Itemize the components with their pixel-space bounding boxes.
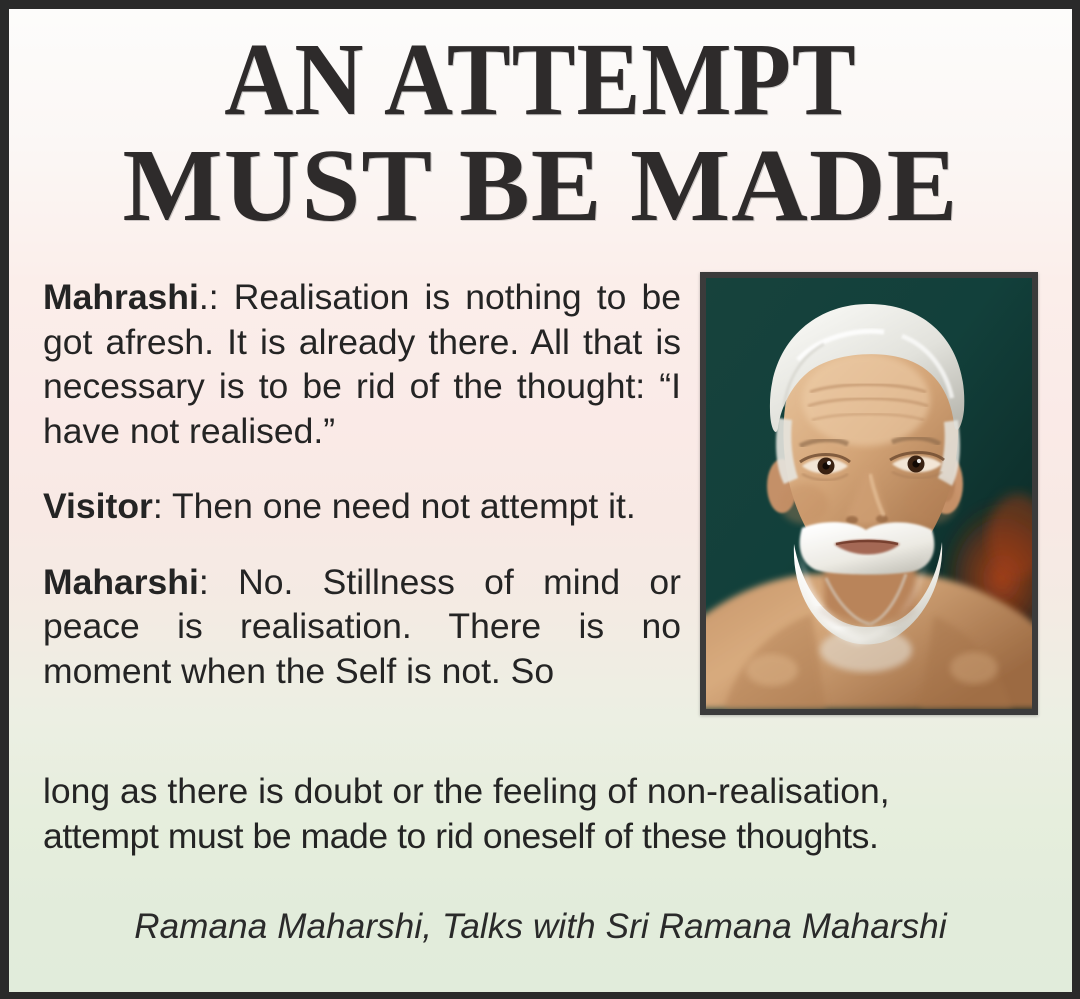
continuation-line-2: attempt must be made to rid oneself of t… [43,814,1047,859]
page-title: AN ATTEMPT MUST BE MADE [9,29,1072,237]
attribution: Ramana Maharshi, Talks with Sri Ramana M… [9,907,1072,947]
dialogue-paragraph-maharshi-1: Mahrashi.: Realisation is nothing to be … [43,275,681,453]
dialogue-text-visitor: Then one need not attempt it. [172,486,636,526]
dialogue-column: Mahrashi.: Realisation is nothing to be … [43,275,681,693]
speaker-label-mahrashi: Mahrashi [43,277,199,317]
speaker-suffix-maharshi: : [199,562,209,602]
speaker-label-maharshi: Maharshi [43,562,199,602]
portrait-image [700,272,1038,715]
continuation-line-1: long as there is doubt or the feeling of… [43,769,1047,814]
dialogue-paragraph-maharshi-2: Maharshi: No. Stillness of mind or peace… [43,560,681,694]
portrait-illustration [706,278,1032,709]
dialogue-paragraph-visitor: Visitor: Then one need not attempt it. [43,484,681,529]
quote-poster: AN ATTEMPT MUST BE MADE [0,0,1080,999]
dialogue-continuation: long as there is doubt or the feeling of… [43,769,1047,858]
title-line-1: AN ATTEMPT [52,29,1030,131]
speaker-suffix-mahrashi: .: [199,277,219,317]
speaker-label-visitor: Visitor [43,486,153,526]
speaker-suffix-visitor: : [153,486,163,526]
title-line-2: MUST BE MADE [9,135,1072,237]
poster-canvas: AN ATTEMPT MUST BE MADE [9,9,1072,992]
